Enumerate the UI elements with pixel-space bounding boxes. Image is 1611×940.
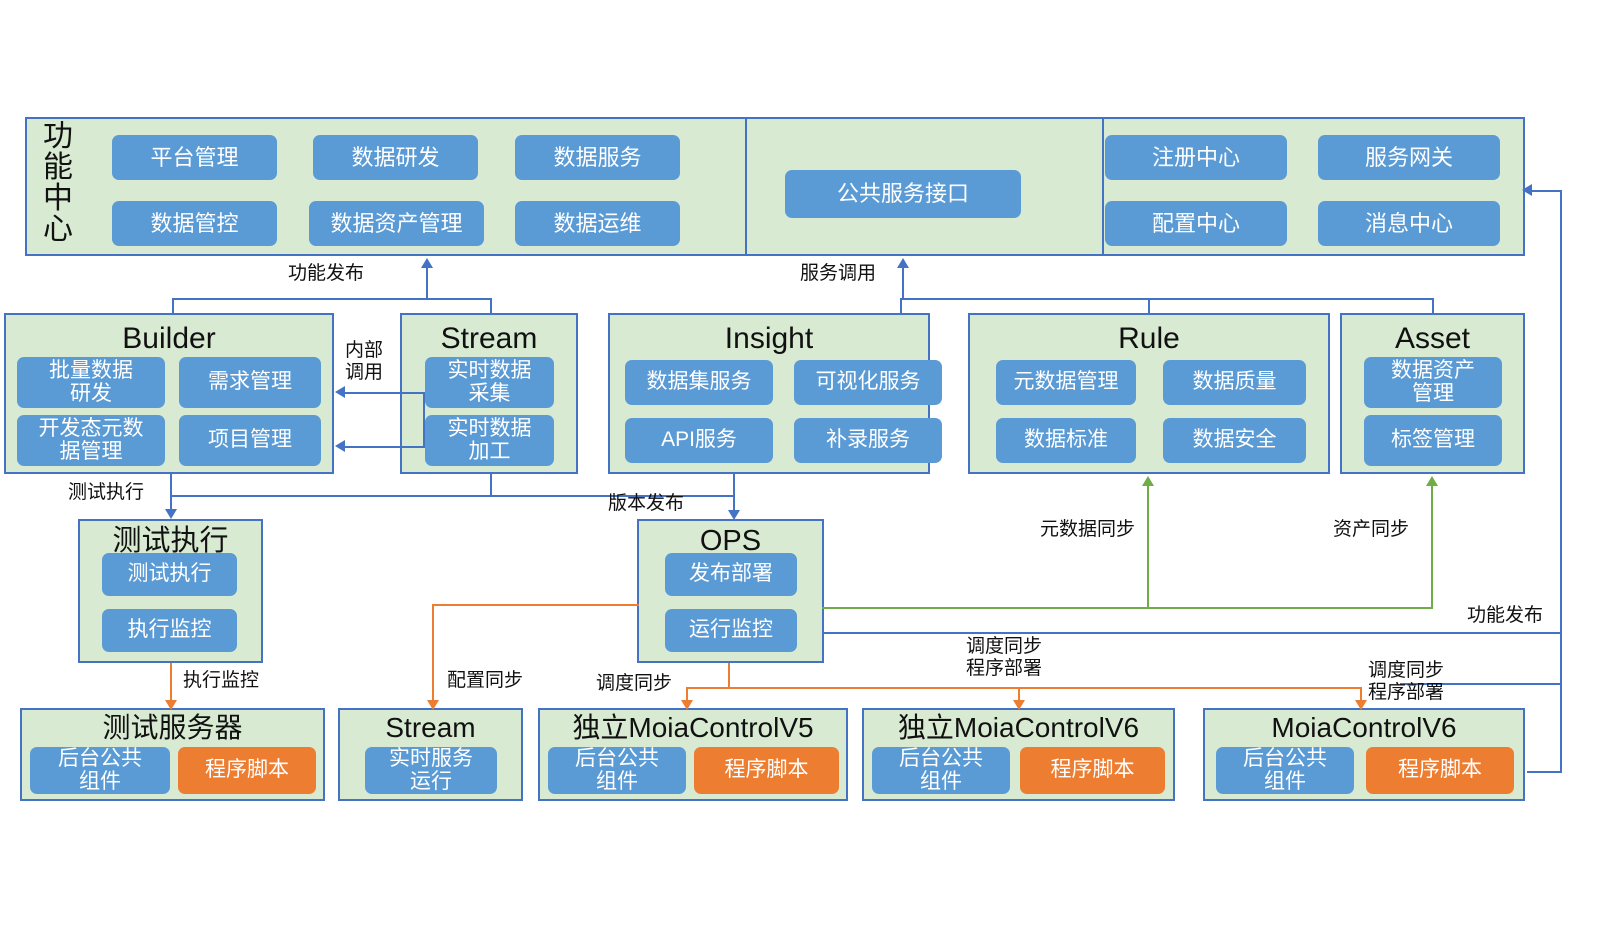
fc-chip-data-governance[interactable]: 数据管控 bbox=[112, 201, 277, 246]
edge-label-schedule-sync-1: 调度同步 bbox=[596, 673, 672, 695]
edge-function-publish-right-horizontal bbox=[822, 632, 1562, 634]
rule-chip-data-standard[interactable]: 数据标准 bbox=[996, 418, 1136, 463]
edge-label-internal-call: 内部 调用 bbox=[340, 340, 388, 384]
edge-schedule-arrow-v5 bbox=[681, 700, 693, 710]
edge-label-schedule-sync-deploy-2: 调度同步 程序部署 bbox=[1368, 660, 1444, 704]
fc-chip-message-center[interactable]: 消息中心 bbox=[1318, 201, 1500, 246]
server-standalone-moiacontrolv6-title: 独立MoiaControlV6 bbox=[864, 714, 1173, 742]
insight-chip-visualization-service[interactable]: 可视化服务 bbox=[794, 360, 942, 405]
edge-config-sync-arrowhead bbox=[427, 700, 439, 710]
server-standalone-moiacontrolv5-title: 独立MoiaControlV5 bbox=[540, 714, 846, 742]
ops-chip-release-deploy[interactable]: 发布部署 bbox=[665, 553, 797, 596]
module-insight-title: Insight bbox=[610, 324, 928, 354]
block-ops-title: OPS bbox=[639, 527, 822, 556]
rule-chip-data-quality[interactable]: 数据质量 bbox=[1163, 360, 1306, 405]
builder-chip-requirement-management[interactable]: 需求管理 bbox=[179, 357, 321, 408]
edge-metadata-sync-arrowhead bbox=[1142, 476, 1154, 486]
edge-schedule-arrow-v6 bbox=[1355, 700, 1367, 710]
fc-chip-public-service-interface[interactable]: 公共服务接口 bbox=[785, 170, 1021, 218]
server-stream-title: Stream bbox=[340, 714, 521, 742]
v6-chip-program-script[interactable]: 程序脚本 bbox=[1366, 747, 1514, 794]
server-test-server-title: 测试服务器 bbox=[22, 714, 323, 742]
edge-asset-sync-horizontal bbox=[822, 607, 1432, 609]
test-server-chip-common-components[interactable]: 后台公共 组件 bbox=[30, 747, 170, 794]
edge-exec-monitor-down bbox=[170, 663, 172, 702]
edge-test-execute-arrowhead bbox=[165, 509, 177, 519]
ops-chip-runtime-monitor[interactable]: 运行监控 bbox=[665, 609, 797, 652]
edge-label-service-call: 服务调用 bbox=[800, 263, 876, 285]
edge-service-call-leg-insight bbox=[900, 298, 902, 315]
edge-internal-call-top bbox=[345, 392, 425, 394]
asset-chip-data-asset-management[interactable]: 数据资产 管理 bbox=[1364, 357, 1502, 408]
fc-chip-data-asset-management[interactable]: 数据资产管理 bbox=[309, 201, 484, 246]
stream-server-chip-realtime-service-run[interactable]: 实时服务 运行 bbox=[365, 747, 497, 794]
builder-chip-dev-metadata-management[interactable]: 开发态元数 据管理 bbox=[17, 415, 165, 466]
fc-chip-platform-management[interactable]: 平台管理 bbox=[112, 135, 277, 180]
builder-chip-batch-data-dev[interactable]: 批量数据 研发 bbox=[17, 357, 165, 408]
edge-schedule-bus-stem bbox=[728, 663, 730, 688]
edge-version-publish-leg-insight bbox=[733, 474, 735, 496]
rule-chip-data-security[interactable]: 数据安全 bbox=[1163, 418, 1306, 463]
test-exec-chip-exec-monitor[interactable]: 执行监控 bbox=[102, 609, 237, 652]
fc-chip-data-ops[interactable]: 数据运维 bbox=[515, 201, 680, 246]
v5-chip-program-script[interactable]: 程序脚本 bbox=[694, 747, 839, 794]
edge-label-exec-monitor: 执行监控 bbox=[183, 670, 259, 692]
insight-chip-supplement-service[interactable]: 补录服务 bbox=[794, 418, 942, 463]
v5-chip-common-components[interactable]: 后台公共 组件 bbox=[548, 747, 686, 794]
edge-asset-sync-arrowhead bbox=[1426, 476, 1438, 486]
module-stream-title: Stream bbox=[402, 324, 576, 354]
stream-chip-realtime-collect[interactable]: 实时数据 采集 bbox=[425, 357, 554, 408]
edge-metadata-sync-riser bbox=[1147, 486, 1149, 609]
edge-version-publish-leg-stream bbox=[490, 474, 492, 496]
edge-function-publish-arrowhead bbox=[421, 258, 433, 268]
edge-config-sync-horizontal bbox=[432, 604, 639, 606]
test-server-chip-program-script[interactable]: 程序脚本 bbox=[178, 747, 316, 794]
edge-label-test-execute: 测试执行 bbox=[68, 482, 144, 504]
module-asset-title: Asset bbox=[1342, 324, 1523, 354]
edge-function-publish-right-entry bbox=[1532, 190, 1562, 192]
stream-chip-realtime-process[interactable]: 实时数据 加工 bbox=[425, 415, 554, 466]
v6-chip-common-components[interactable]: 后台公共 组件 bbox=[1216, 747, 1354, 794]
edge-service-call-bus bbox=[900, 298, 1434, 300]
edge-asset-sync-riser bbox=[1431, 486, 1433, 609]
edge-v6-return-entry bbox=[1527, 771, 1562, 773]
edge-v6-return-riser bbox=[1560, 634, 1562, 684]
edge-version-publish-arrowhead bbox=[728, 510, 740, 520]
edge-function-publish-bus bbox=[172, 298, 492, 300]
band-divider-2 bbox=[1102, 119, 1104, 254]
edge-label-schedule-sync-deploy-1: 调度同步 程序部署 bbox=[966, 636, 1042, 680]
edge-service-call-riser bbox=[902, 266, 904, 299]
v6s-chip-common-components[interactable]: 后台公共 组件 bbox=[872, 747, 1010, 794]
edge-config-sync-down bbox=[432, 604, 434, 702]
module-builder-title: Builder bbox=[6, 324, 332, 354]
edge-schedule-bus-horizontal bbox=[686, 687, 1362, 689]
server-moiacontrolv6-title: MoiaControlV6 bbox=[1205, 714, 1523, 742]
edge-service-call-arrowhead bbox=[897, 258, 909, 268]
asset-chip-tag-management[interactable]: 标签管理 bbox=[1364, 415, 1502, 466]
edge-function-publish-right-riser bbox=[1560, 190, 1562, 634]
edge-exec-monitor-arrowhead bbox=[165, 700, 177, 710]
functional-center-label: 功能中心 bbox=[36, 122, 80, 252]
rule-chip-metadata-management[interactable]: 元数据管理 bbox=[996, 360, 1136, 405]
fc-chip-service-gateway[interactable]: 服务网关 bbox=[1318, 135, 1500, 180]
edge-internal-call-arrow-top bbox=[335, 386, 345, 398]
fc-chip-data-development[interactable]: 数据研发 bbox=[313, 135, 478, 180]
edge-internal-call-riser bbox=[423, 392, 425, 446]
edge-label-function-publish-top: 功能发布 bbox=[288, 263, 364, 285]
edge-schedule-arrow-v6s bbox=[1013, 700, 1025, 710]
builder-chip-project-management[interactable]: 项目管理 bbox=[179, 415, 321, 466]
edge-function-publish-right-leg bbox=[490, 298, 492, 315]
block-test-execution-title: 测试执行 bbox=[80, 527, 261, 556]
edge-internal-call-bottom bbox=[345, 446, 425, 448]
edge-label-metadata-sync: 元数据同步 bbox=[1040, 519, 1135, 541]
fc-chip-config-center[interactable]: 配置中心 bbox=[1105, 201, 1287, 246]
band-divider-1 bbox=[745, 119, 747, 254]
test-exec-chip-test-execution[interactable]: 测试执行 bbox=[102, 553, 237, 596]
edge-service-call-leg-rule bbox=[1148, 298, 1150, 315]
edge-service-call-leg-asset bbox=[1432, 298, 1434, 315]
fc-chip-registry-center[interactable]: 注册中心 bbox=[1105, 135, 1287, 180]
edge-internal-call-arrow-bottom bbox=[335, 440, 345, 452]
fc-chip-data-service[interactable]: 数据服务 bbox=[515, 135, 680, 180]
edge-label-config-sync: 配置同步 bbox=[447, 670, 523, 692]
insight-chip-api-service[interactable]: API服务 bbox=[625, 418, 773, 463]
edge-function-publish-right-arrowhead bbox=[1522, 184, 1532, 196]
edge-label-asset-sync: 资产同步 bbox=[1333, 519, 1409, 541]
v6s-chip-program-script[interactable]: 程序脚本 bbox=[1020, 747, 1165, 794]
edge-v6-return-down bbox=[1560, 683, 1562, 773]
insight-chip-dataset-service[interactable]: 数据集服务 bbox=[625, 360, 773, 405]
edge-test-execute-down bbox=[170, 474, 172, 511]
module-rule-title: Rule bbox=[970, 324, 1328, 354]
architecture-diagram: 功能中心 平台管理 数据研发 数据服务 数据管控 数据资产管理 数据运维 公共服… bbox=[0, 0, 1611, 940]
edge-label-function-publish-right: 功能发布 bbox=[1467, 605, 1543, 627]
edge-function-publish-left-leg bbox=[172, 298, 174, 315]
edge-label-version-publish: 版本发布 bbox=[608, 493, 684, 515]
edge-function-publish-riser bbox=[426, 266, 428, 299]
